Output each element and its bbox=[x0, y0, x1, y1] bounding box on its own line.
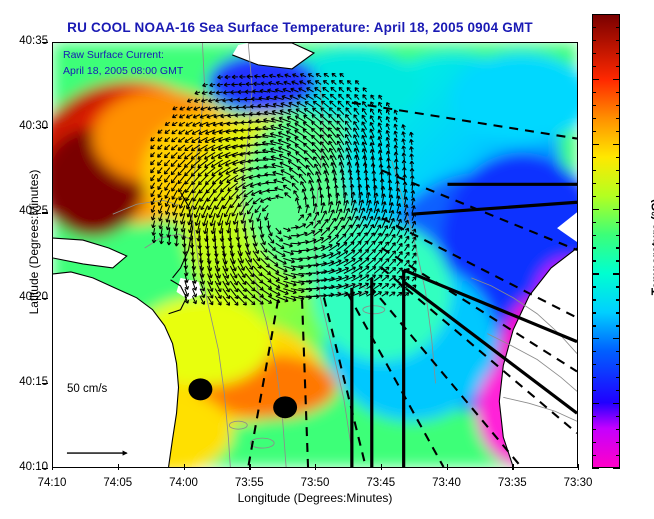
colorbar-tick-mark bbox=[613, 468, 620, 469]
x-tick-label: 73:30 bbox=[548, 477, 608, 489]
y-tick-mark bbox=[42, 212, 48, 213]
y-tick-label: 40:30 bbox=[4, 120, 48, 132]
x-tick-label: 73:55 bbox=[219, 477, 279, 489]
colorbar-tick-mark bbox=[592, 27, 596, 28]
colorbar-tick-mark bbox=[592, 455, 596, 456]
sst-map-figure: RU COOL NOAA-16 Sea Surface Temperature:… bbox=[0, 0, 654, 519]
x-tick-mark bbox=[512, 464, 513, 470]
colorbar-tick-mark bbox=[592, 260, 596, 261]
colorbar-tick-mark bbox=[592, 118, 596, 119]
sst-raster-and-overlays bbox=[53, 43, 577, 467]
colorbar-tick-mark bbox=[592, 442, 596, 443]
x-tick-label: 73:45 bbox=[351, 477, 411, 489]
colorbar-tick-mark bbox=[592, 144, 599, 145]
x-tick-mark bbox=[249, 464, 250, 470]
y-tick-label: 40:10 bbox=[4, 461, 48, 473]
colorbar-tick-mark bbox=[616, 66, 620, 67]
colorbar-tick-mark bbox=[592, 105, 596, 106]
colorbar-tick-mark bbox=[592, 273, 599, 274]
colorbar-tick-mark bbox=[613, 209, 620, 210]
colorbar-tick-mark bbox=[592, 53, 596, 54]
colorbar-tick-mark bbox=[616, 222, 620, 223]
colorbar-tick-mark bbox=[616, 299, 620, 300]
colorbar-tick-mark bbox=[592, 416, 596, 417]
colorbar-tick-mark bbox=[616, 40, 620, 41]
colorbar-ticks: 109.598.587.576.5 bbox=[592, 14, 620, 468]
colorbar-tick-mark bbox=[592, 79, 599, 80]
colorbar-tick-mark bbox=[592, 14, 599, 15]
x-tick-label: 74:00 bbox=[154, 477, 214, 489]
y-tick-mark bbox=[42, 383, 48, 384]
colorbar-tick-mark bbox=[592, 390, 596, 391]
x-tick-mark bbox=[52, 464, 53, 470]
colorbar-tick-mark bbox=[616, 157, 620, 158]
colorbar-tick-mark bbox=[592, 235, 596, 236]
colorbar-title: Temperature (°C) bbox=[649, 147, 654, 347]
y-tick-label: 40:25 bbox=[4, 205, 48, 217]
colorbar-tick-mark bbox=[592, 183, 596, 184]
colorbar-tick-mark bbox=[616, 118, 620, 119]
colorbar-tick-mark bbox=[616, 442, 620, 443]
y-tick-label: 40:20 bbox=[4, 291, 48, 303]
colorbar-tick-mark bbox=[592, 40, 596, 41]
colorbar-tick-mark bbox=[616, 260, 620, 261]
colorbar-tick-mark bbox=[592, 247, 596, 248]
colorbar-tick-mark bbox=[616, 196, 620, 197]
overlay-annotation-line1: Raw Surface Current: bbox=[63, 49, 164, 61]
x-tick-label: 73:50 bbox=[285, 477, 345, 489]
colorbar-tick-mark bbox=[592, 92, 596, 93]
colorbar-tick-mark bbox=[616, 131, 620, 132]
colorbar-tick-mark bbox=[592, 429, 596, 430]
colorbar-tick-mark bbox=[616, 92, 620, 93]
x-tick-mark bbox=[184, 464, 185, 470]
x-tick-label: 74:05 bbox=[88, 477, 148, 489]
colorbar-tick-mark bbox=[616, 325, 620, 326]
y-axis-title: Latitude (Degrees:Minutes) bbox=[27, 122, 41, 362]
colorbar-tick-mark bbox=[616, 183, 620, 184]
colorbar-tick-mark bbox=[613, 338, 620, 339]
x-tick-mark bbox=[315, 464, 316, 470]
map-plot-area[interactable]: Raw Surface Current: April 18, 2005 08:0… bbox=[52, 42, 578, 468]
colorbar-tick-mark bbox=[592, 286, 596, 287]
colorbar-tick-mark bbox=[592, 351, 596, 352]
colorbar-tick-mark bbox=[613, 273, 620, 274]
x-tick-mark bbox=[381, 464, 382, 470]
colorbar-tick-mark bbox=[616, 351, 620, 352]
colorbar-tick-mark bbox=[592, 364, 596, 365]
colorbar-tick-mark bbox=[616, 170, 620, 171]
colorbar-tick-mark bbox=[616, 377, 620, 378]
scale-bar-label: 50 cm/s bbox=[67, 383, 107, 395]
colorbar-tick-mark bbox=[592, 222, 596, 223]
colorbar-tick-mark bbox=[613, 14, 620, 15]
colorbar-tick-mark bbox=[616, 312, 620, 313]
x-tick-mark bbox=[118, 464, 119, 470]
x-axis-title: Longitude (Degrees:Minutes) bbox=[52, 491, 578, 505]
colorbar-tick-mark bbox=[616, 53, 620, 54]
colorbar-tick-mark bbox=[616, 105, 620, 106]
y-tick-mark bbox=[42, 127, 48, 128]
colorbar-tick-mark bbox=[616, 364, 620, 365]
colorbar-tick-mark bbox=[616, 390, 620, 391]
colorbar-tick-mark bbox=[592, 468, 599, 469]
radar-site-1-marker bbox=[188, 378, 212, 400]
colorbar-tick-mark bbox=[592, 325, 596, 326]
colorbar-tick-mark bbox=[616, 235, 620, 236]
colorbar-tick-mark bbox=[592, 196, 596, 197]
y-tick-label: 40:35 bbox=[4, 35, 48, 47]
colorbar-tick-mark bbox=[592, 403, 599, 404]
x-tick-label: 73:40 bbox=[417, 477, 477, 489]
y-tick-label: 40:15 bbox=[4, 376, 48, 388]
y-tick-mark bbox=[42, 42, 48, 43]
colorbar-tick-mark bbox=[613, 79, 620, 80]
colorbar-tick-mark bbox=[616, 247, 620, 248]
colorbar-tick-mark bbox=[616, 286, 620, 287]
colorbar-tick-mark bbox=[616, 27, 620, 28]
colorbar-tick-mark bbox=[592, 170, 596, 171]
x-tick-mark bbox=[447, 464, 448, 470]
y-tick-mark bbox=[42, 468, 48, 469]
colorbar-tick-mark bbox=[616, 416, 620, 417]
colorbar-tick-mark bbox=[592, 209, 599, 210]
colorbar-tick-mark bbox=[616, 455, 620, 456]
x-axis-ticks: 74:1074:0574:0073:5573:5073:4573:4073:35… bbox=[52, 470, 578, 490]
colorbar-tick-mark bbox=[592, 299, 596, 300]
x-tick-label: 73:35 bbox=[482, 477, 542, 489]
colorbar-tick-mark bbox=[613, 403, 620, 404]
colorbar-tick-mark bbox=[592, 157, 596, 158]
radar-site-2-marker bbox=[273, 396, 297, 418]
figure-title: RU COOL NOAA-16 Sea Surface Temperature:… bbox=[0, 20, 600, 35]
colorbar-tick-mark bbox=[613, 144, 620, 145]
colorbar-tick-mark bbox=[616, 429, 620, 430]
colorbar-tick-mark bbox=[592, 312, 596, 313]
colorbar-tick-mark bbox=[592, 338, 599, 339]
overlay-annotation-line2: April 18, 2005 08:00 GMT bbox=[63, 65, 183, 77]
colorbar-tick-mark bbox=[592, 377, 596, 378]
colorbar-tick-mark bbox=[592, 131, 596, 132]
x-tick-label: 74:10 bbox=[22, 477, 82, 489]
colorbar-tick-mark bbox=[592, 66, 596, 67]
x-tick-mark bbox=[578, 464, 579, 470]
y-tick-mark bbox=[42, 298, 48, 299]
